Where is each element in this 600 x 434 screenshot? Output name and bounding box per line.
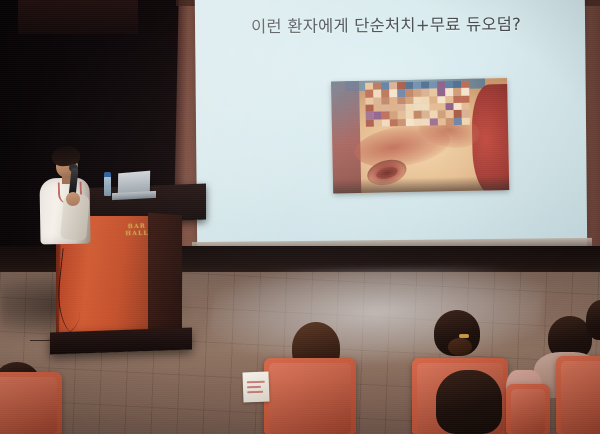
speaker-hair [51, 145, 80, 167]
slide-title: 이런 환자에게 단순처치+무료 듀오덤? [251, 10, 571, 37]
ceiling-panel [18, 0, 138, 34]
photo-vignette [331, 78, 509, 194]
seat-front-left [0, 372, 62, 434]
projection-screen: 이런 환자에게 단순처치+무료 듀오덤? [195, 0, 587, 250]
water-bottle-cap [104, 172, 111, 177]
seat-right [556, 356, 600, 434]
podium-plaque: BAR HALL [115, 222, 159, 235]
seat-left [264, 358, 356, 434]
hair-clip-icon [459, 334, 469, 338]
auditorium-photo: 이런 환자에게 단순처치+무료 듀오덤? BAR HALL [0, 0, 600, 434]
attendee-center-hair-bun [448, 338, 472, 356]
slide-clinical-photo [331, 78, 509, 194]
handout-paper [242, 372, 269, 403]
water-bottle [104, 176, 111, 196]
seat-far-right [506, 384, 550, 434]
attendee-center-front-head [436, 370, 502, 434]
